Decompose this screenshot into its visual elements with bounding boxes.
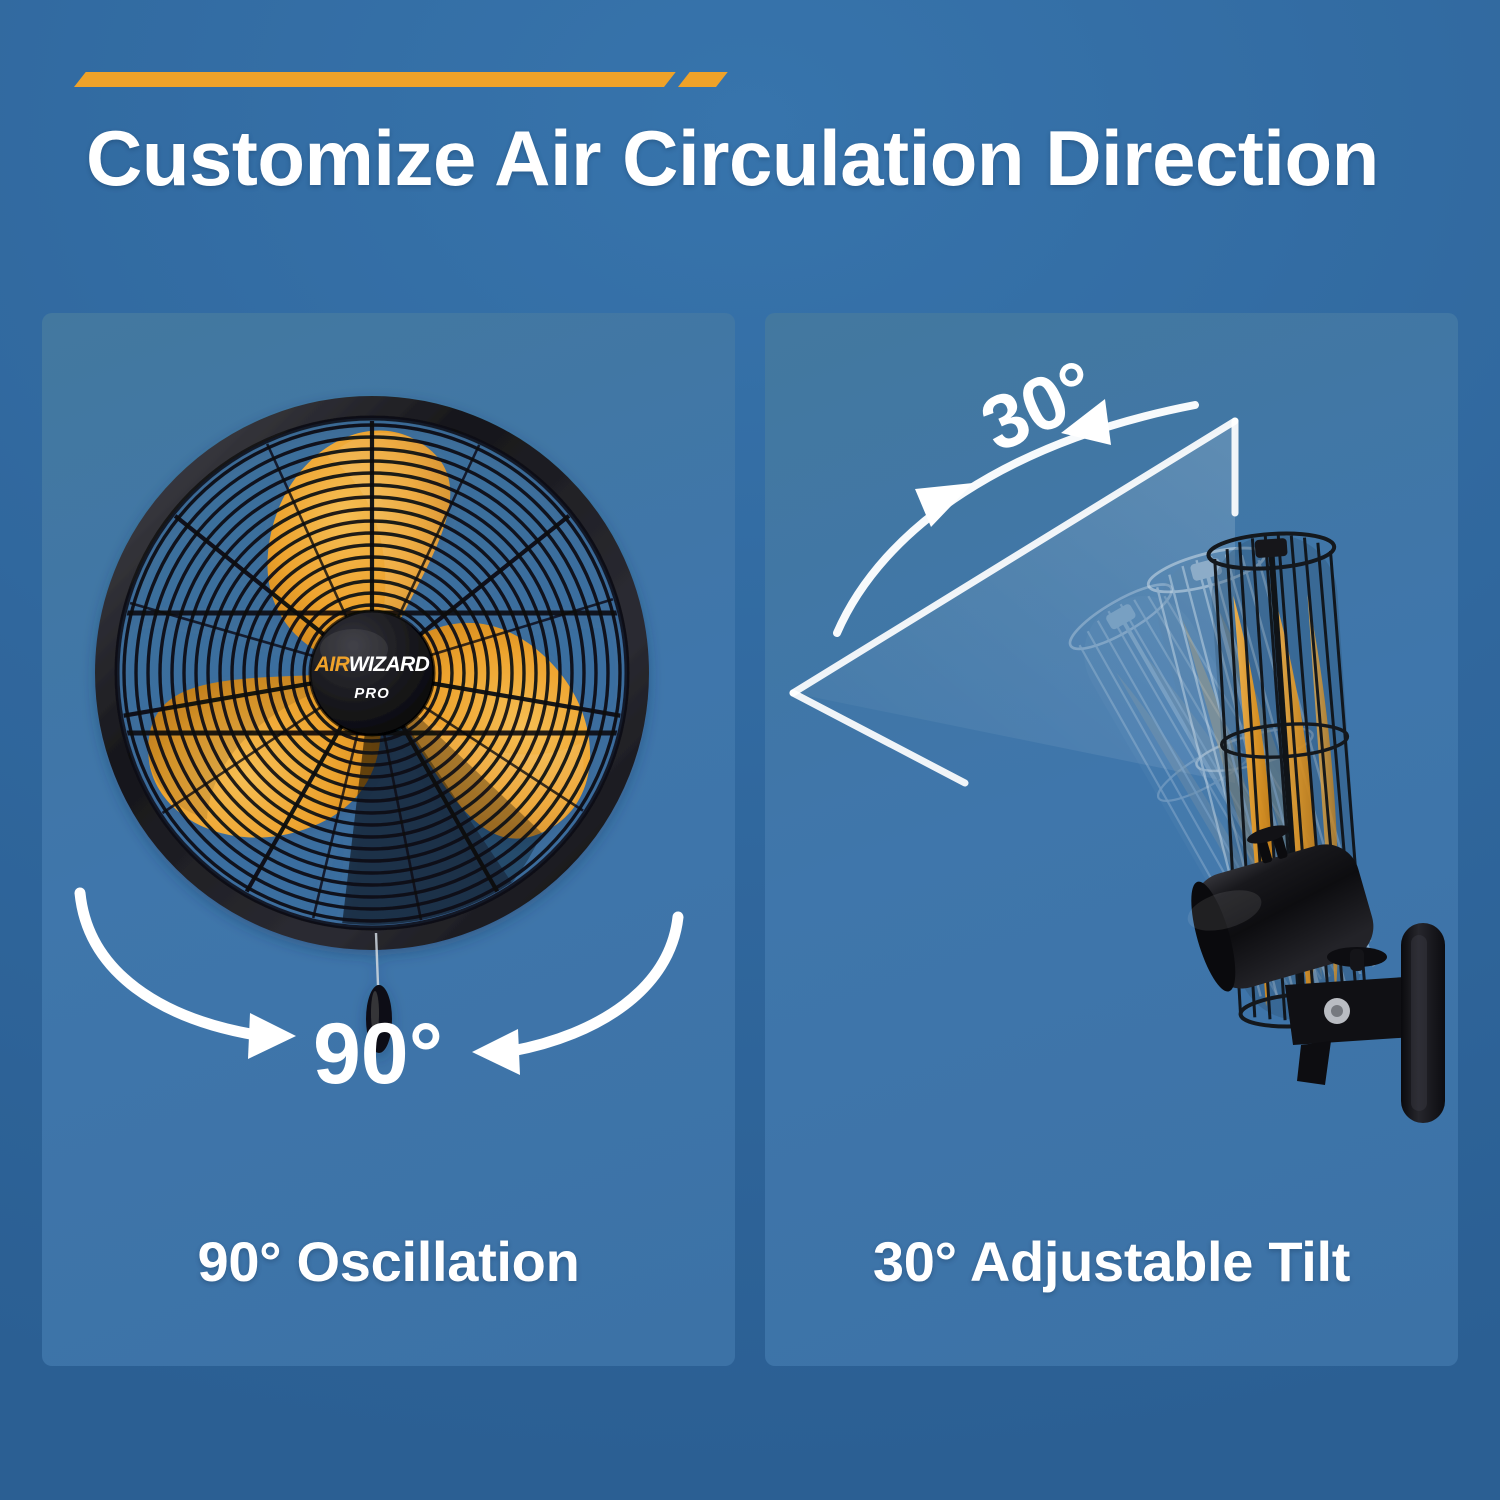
feature-cards: AIRWIZARD PRO xyxy=(42,313,1458,1366)
accent-bar-long xyxy=(74,72,676,87)
page-background: Customize Air Circulation Direction xyxy=(0,0,1500,1500)
fan-front-assembly: AIRWIZARD PRO xyxy=(106,407,638,1053)
svg-text:PRO: PRO xyxy=(354,685,390,702)
feature-card-oscillation: AIRWIZARD PRO xyxy=(42,313,735,1366)
tilt-illustration: 30° xyxy=(765,313,1458,1153)
accent-bar-dash xyxy=(678,72,728,87)
hub-badge: AIRWIZARD PRO xyxy=(310,611,434,735)
oscillation-angle-label: 90° xyxy=(313,1006,443,1102)
svg-text:AIRWIZARD: AIRWIZARD xyxy=(314,653,430,676)
feature-card-tilt: 30° xyxy=(765,313,1458,1366)
accent-bar xyxy=(74,68,714,90)
page-title: Customize Air Circulation Direction xyxy=(86,118,1466,200)
caption-tilt: 30° Adjustable Tilt xyxy=(765,1229,1458,1294)
caption-oscillation: 90° Oscillation xyxy=(42,1229,735,1294)
oscillation-illustration: AIRWIZARD PRO xyxy=(42,313,735,1153)
tilt-angle-label: 30° xyxy=(969,344,1109,468)
